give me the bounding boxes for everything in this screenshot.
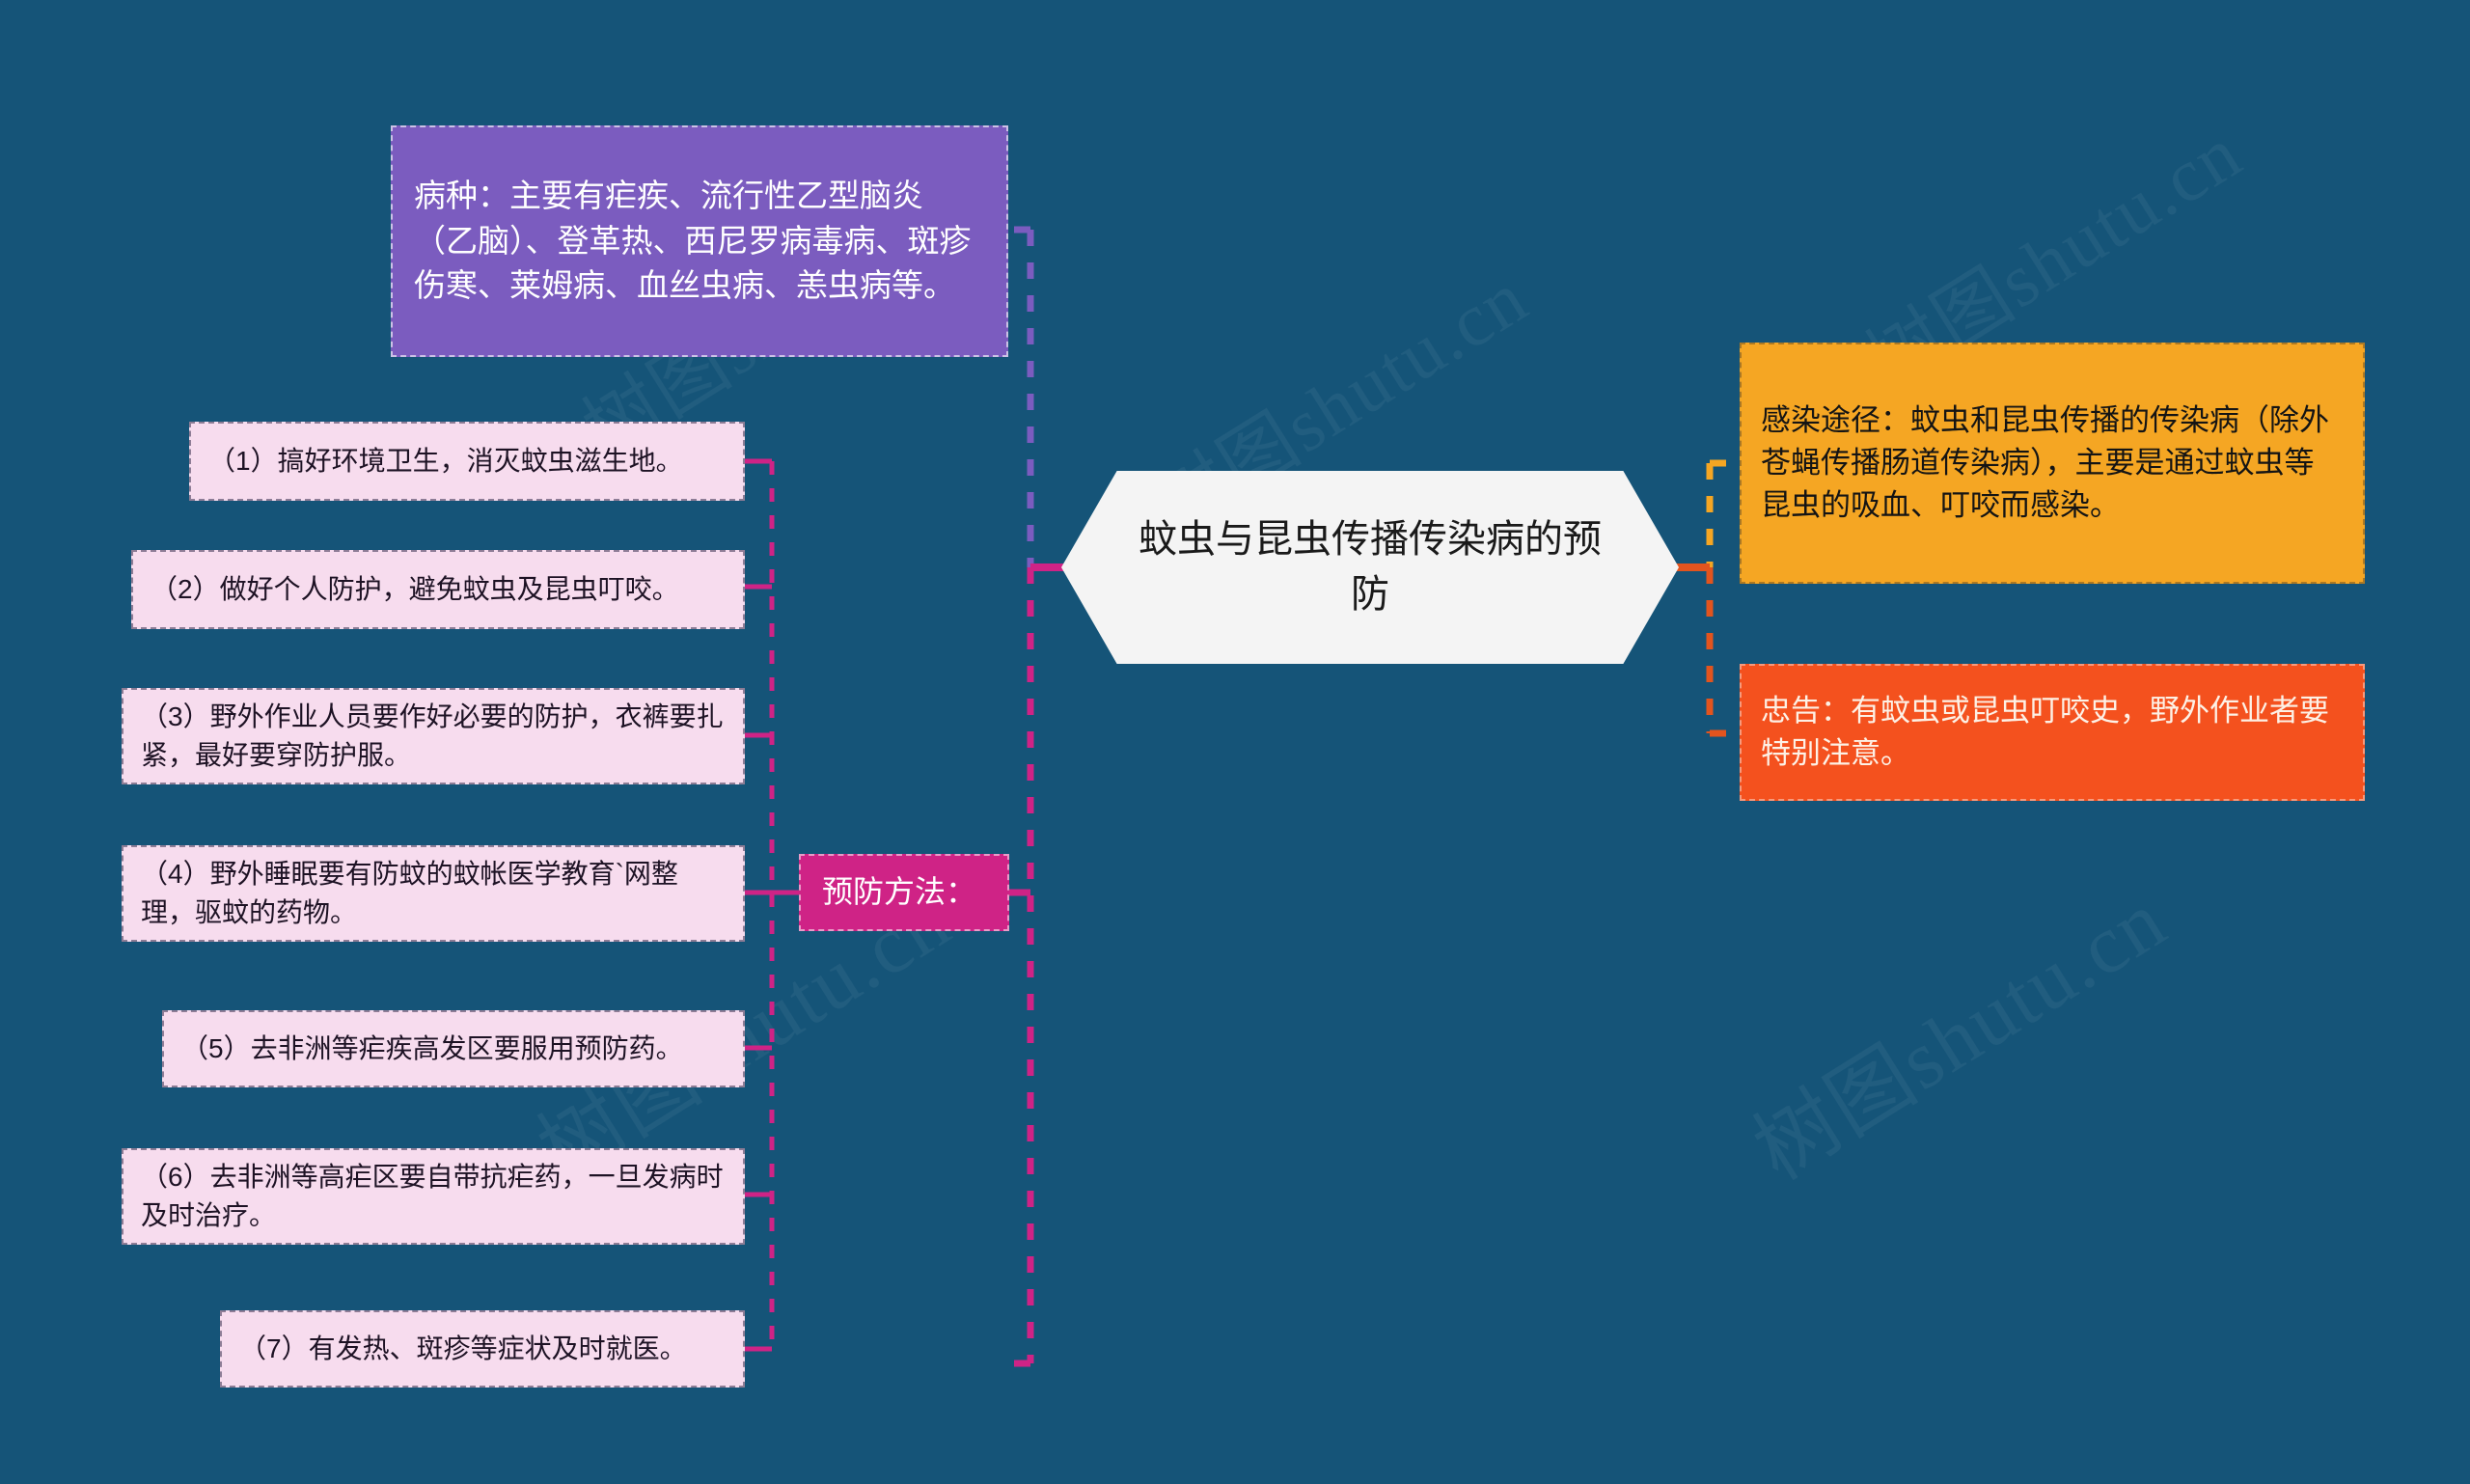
branch-prevention-methods[interactable]: 预防方法： xyxy=(799,854,1009,931)
branch-prevention-methods-label: 预防方法： xyxy=(822,870,976,914)
prevention-item-4[interactable]: （4）野外睡眠要有防蚊的蚊帐医学教育`网整理，驱蚊的药物。 xyxy=(122,845,745,942)
center-node-label: 蚊虫与昆虫传播传染病的预防 xyxy=(1129,512,1611,622)
prevention-item-5-label: （5）去非洲等疟疾高发区要服用预防药。 xyxy=(181,1030,683,1068)
branch-advice-label: 忠告：有蚊虫或昆虫叮咬史，野外作业者要特别注意。 xyxy=(1761,690,2344,775)
branch-advice[interactable]: 忠告：有蚊虫或昆虫叮咬史，野外作业者要特别注意。 xyxy=(1740,664,2365,801)
prevention-item-6[interactable]: （6）去非洲等高疟区要自带抗疟药，一旦发病时及时治疗。 xyxy=(122,1148,745,1245)
prevention-item-3-label: （3）野外作业人员要作好必要的防护，衣裤要扎紧，最好要穿防护服。 xyxy=(141,698,726,775)
prevention-item-1-label: （1）搞好环境卫生，消灭蚊虫滋生地。 xyxy=(208,442,683,481)
branch-infection-route[interactable]: 感染途径：蚊虫和昆虫传播的传染病（除外苍蝇传播肠道传染病），主要是通过蚊虫等昆虫… xyxy=(1740,343,2365,584)
watermark: 树图shutu.cn xyxy=(1727,854,2184,1202)
connector-prevention-trunk xyxy=(1008,567,1030,1363)
prevention-item-7-label: （7）有发热、斑疹等症状及时就医。 xyxy=(239,1330,687,1368)
branch-infection-route-label: 感染途径：蚊虫和昆虫传播的传染病（除外苍蝇传播肠道传染病），主要是通过蚊虫等昆虫… xyxy=(1761,399,2344,527)
branch-disease-types[interactable]: 病种：主要有疟疾、流行性乙型脑炎（乙脑）、登革热、西尼罗病毒病、斑疹伤寒、莱姆病… xyxy=(391,125,1008,357)
connector-disease-types xyxy=(1008,230,1030,567)
connector-right-trunk xyxy=(1710,463,1737,733)
prevention-item-7[interactable]: （7）有发热、斑疹等症状及时就医。 xyxy=(220,1310,745,1388)
prevention-item-2-label: （2）做好个人防护，避免蚊虫及昆虫叮咬。 xyxy=(151,570,679,609)
prevention-item-2[interactable]: （2）做好个人防护，避免蚊虫及昆虫叮咬。 xyxy=(131,550,745,629)
prevention-item-5[interactable]: （5）去非洲等疟疾高发区要服用预防药。 xyxy=(162,1010,745,1087)
prevention-item-6-label: （6）去非洲等高疟区要自带抗疟药，一旦发病时及时治疗。 xyxy=(141,1158,726,1235)
mindmap-canvas: 树图shutu.cn 树图shutu.cn 树图shutu.cn 树图shutu… xyxy=(0,0,2470,1484)
connector-item-stubs xyxy=(745,461,772,1349)
prevention-item-1[interactable]: （1）搞好环境卫生，消灭蚊虫滋生地。 xyxy=(189,422,745,501)
branch-disease-types-label: 病种：主要有疟疾、流行性乙型脑炎（乙脑）、登革热、西尼罗病毒病、斑疹伤寒、莱姆病… xyxy=(414,174,985,310)
center-node[interactable]: 蚊虫与昆虫传播传染病的预防 xyxy=(1061,471,1679,664)
prevention-item-4-label: （4）野外睡眠要有防蚊的蚊帐医学教育`网整理，驱蚊的药物。 xyxy=(141,855,726,932)
prevention-item-3[interactable]: （3）野外作业人员要作好必要的防护，衣裤要扎紧，最好要穿防护服。 xyxy=(122,688,745,784)
